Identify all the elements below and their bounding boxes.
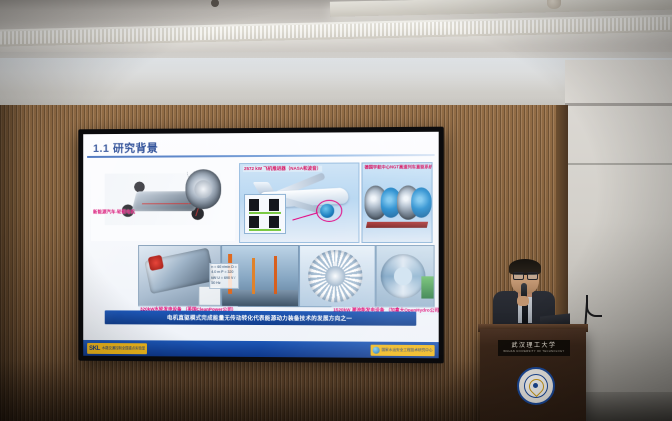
- panel-ev-hub-motor: [91, 163, 235, 241]
- inset-block-2: [269, 199, 279, 211]
- skl-logo-mark: SKL: [89, 345, 100, 351]
- panel-nasa-propulsor: 2572 kW 飞机推进器（NASA和波音）: [239, 162, 359, 243]
- crest-inner: [524, 374, 548, 398]
- crane-column-2: [252, 258, 255, 294]
- skl-lab-logo: SKL 水路交通控制全国重点实验室: [87, 343, 147, 354]
- caption-nasa-propulsor: 2572 kW 飞机推进器（NASA和波音）: [243, 166, 322, 172]
- tidal-rim-turbine-icon: [381, 254, 426, 298]
- panel-tidal-generator: [376, 245, 435, 308]
- panel-ngt-train: 德国宇航中心NGT高速列车直驱系统: [361, 162, 432, 243]
- right-wall-seam-upper: [565, 103, 672, 106]
- university-crest-icon: [517, 367, 555, 405]
- slide-key-message-banner: 电机直驱模式完成能量无传动转化代表能源动力装备技术的发展方向之一: [105, 310, 417, 325]
- right-wall-seam: [565, 163, 672, 165]
- train-motor-2: [411, 187, 431, 217]
- university-name-cn: 武汉理工大学: [511, 343, 556, 349]
- presenter-hand: [517, 296, 529, 306]
- hanging-cable-loop: [586, 295, 602, 317]
- green-equipment: [421, 276, 433, 298]
- screenshot-root: 1.1 研究背景 新能源汽车-轮毂电机 2572 kW 飞机推进器（NASA和波…: [0, 0, 672, 421]
- hydro-spec-inset: [198, 286, 221, 306]
- slide-title: 1.1 研究背景: [93, 140, 158, 156]
- factory-floor: [222, 290, 298, 306]
- caption-ngt-train: 德国宇航中心NGT高速列车直驱系统: [365, 164, 433, 170]
- globe-icon: [372, 347, 379, 354]
- panel-rotor: [299, 245, 376, 307]
- inset-block-3: [249, 216, 259, 228]
- inset-block-4: [269, 216, 279, 228]
- caption-ev-hub-motor: 新能源汽车-轮毂电机: [93, 209, 135, 215]
- hub-motor-icon: [185, 169, 221, 209]
- slide-key-message-text: 电机直驱模式完成能量无传动转化代表能源动力装备技术的发展方向之一: [167, 314, 352, 323]
- slide-footer-bar: SKL 水路交通控制全国重点实验室 国家水运安全工程技术研究中心: [83, 340, 438, 358]
- projection-screen[interactable]: 1.1 研究背景 新能源汽车-轮毂电机 2572 kW 飞机推进器（NASA和波…: [83, 132, 438, 359]
- inset-schematic: [244, 194, 286, 234]
- crane-column-3: [274, 256, 277, 294]
- rim-driven-rotor-icon: [308, 250, 362, 302]
- train-test-rig-base: [366, 222, 428, 228]
- inset-block-1: [249, 199, 259, 211]
- highlight-ellipse: [316, 200, 342, 222]
- hydro-red-component: [148, 255, 164, 271]
- presentation-slide: 1.1 研究背景 新能源汽车-轮毂电机 2572 kW 飞机推进器（NASA和波…: [83, 132, 438, 359]
- inset-green-line-1: [249, 212, 281, 214]
- glasses-bridge-icon: [513, 273, 537, 280]
- lectern-nameplate: 武汉理工大学 WUHAN UNIVERSITY OF TECHNOLOGY: [498, 340, 570, 356]
- inset-green-line-2: [249, 229, 281, 231]
- hydro-spec-text: n = 60 r/min D = 4.0 m P = 320 kW U = 69…: [209, 263, 239, 289]
- university-name-en: WUHAN UNIVERSITY OF TECHNOLOGY: [503, 350, 564, 353]
- research-center-text: 国家水运安全工程技术研究中心: [381, 348, 432, 353]
- callout-pointer-line: [292, 212, 317, 220]
- research-center-logo: 国家水运安全工程技术研究中心: [370, 345, 434, 357]
- projection-screen-frame: 1.1 研究背景 新能源汽车-轮毂电机 2572 kW 飞机推进器（NASA和波…: [78, 127, 443, 364]
- skl-logo-text: 水路交通控制全国重点实验室: [102, 347, 145, 351]
